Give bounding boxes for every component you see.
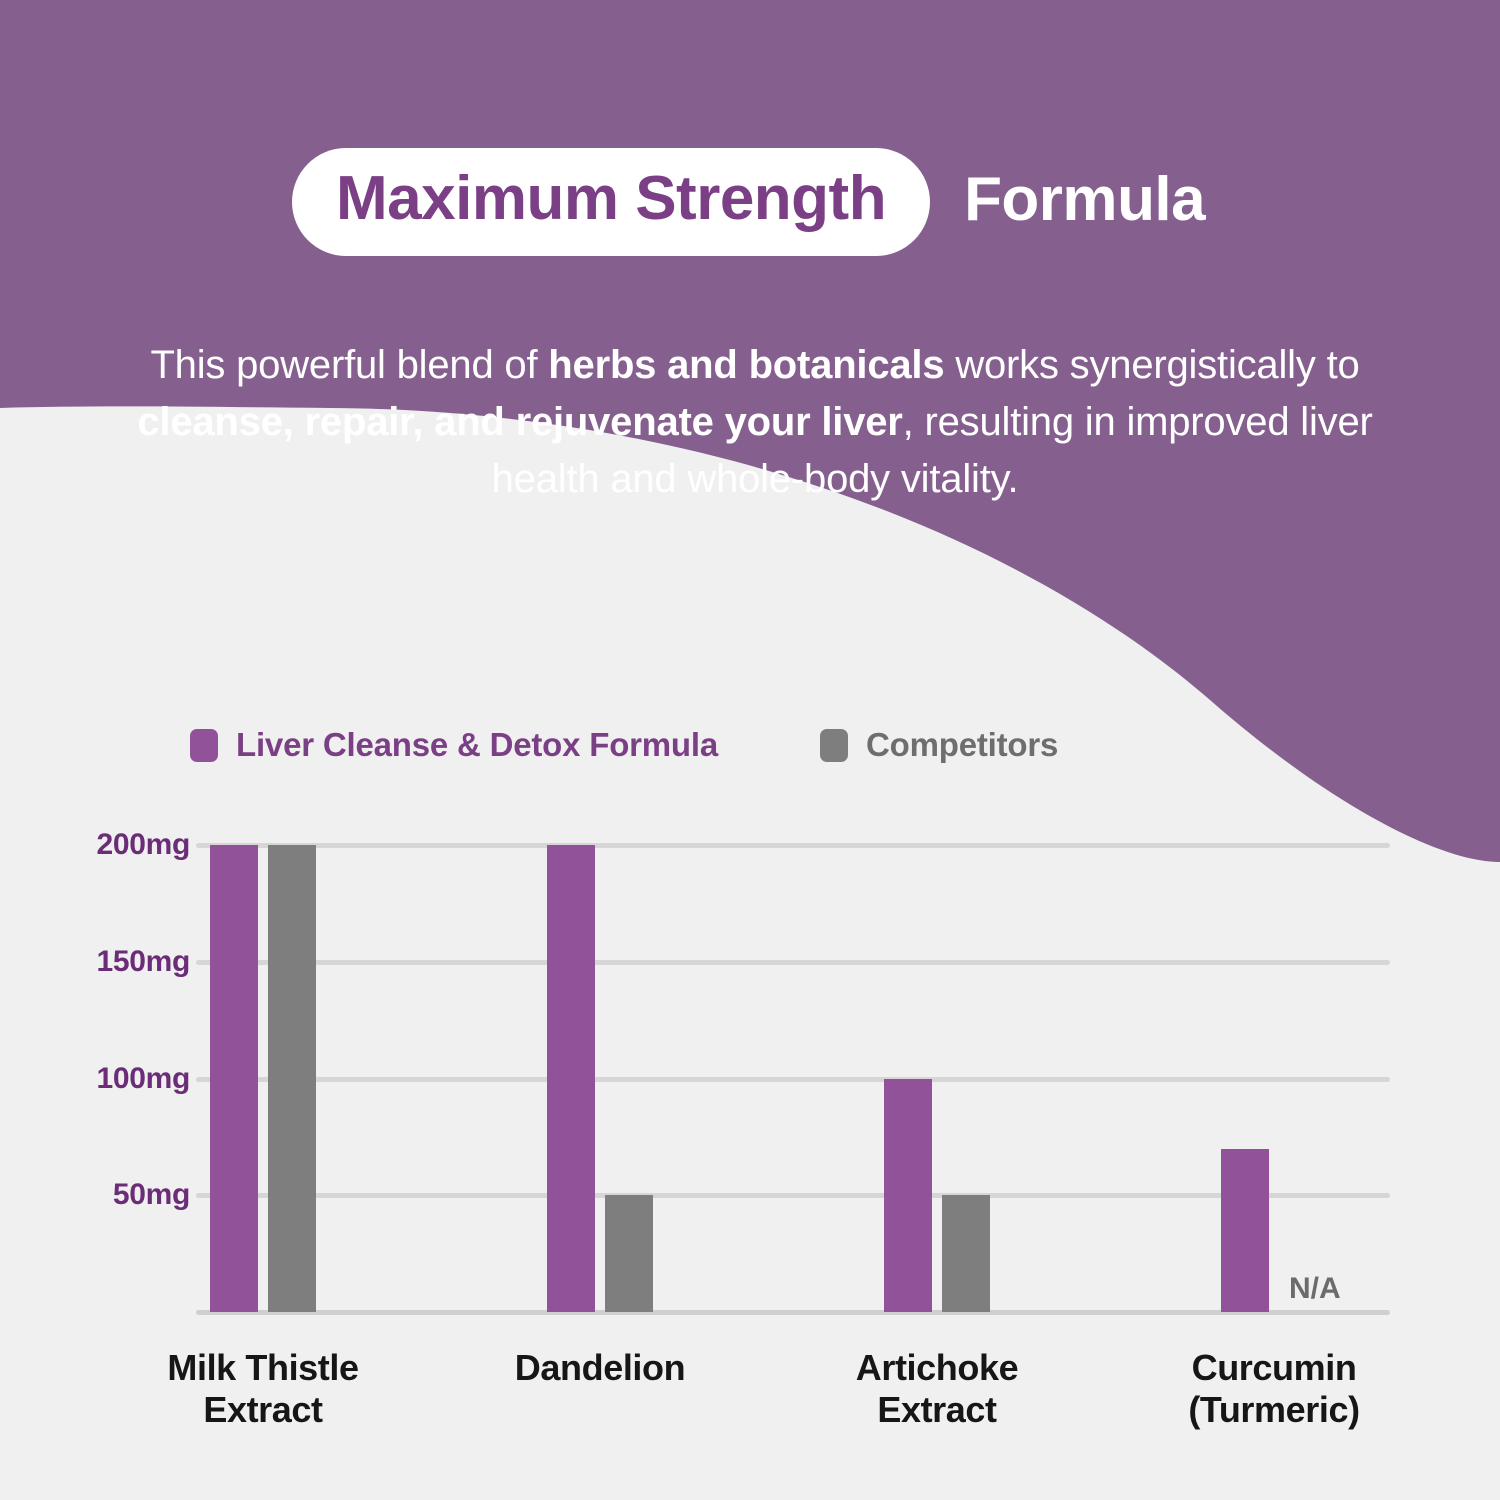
y-tick-label-200: 200mg xyxy=(30,828,190,862)
x-axis-label-1: Dandelion xyxy=(450,1347,750,1389)
x-axis-label-line: Dandelion xyxy=(450,1347,750,1389)
bar-competitor-0[interactable] xyxy=(268,845,316,1312)
x-axis-label-line: Curcumin xyxy=(1124,1347,1424,1389)
axis-baseline xyxy=(196,1310,1390,1315)
bar-competitor-2[interactable] xyxy=(942,1195,990,1312)
bar-formula-3[interactable] xyxy=(1221,1149,1269,1312)
x-axis-label-line: Extract xyxy=(113,1389,413,1431)
x-axis-label-3: Curcumin(Turmeric) xyxy=(1124,1347,1424,1432)
x-axis-label-line: Artichoke xyxy=(787,1347,1087,1389)
y-tick-label-50: 50mg xyxy=(30,1178,190,1212)
bar-formula-1[interactable] xyxy=(547,845,595,1312)
gridline-100 xyxy=(196,1077,1390,1082)
x-axis-label-line: (Turmeric) xyxy=(1124,1389,1424,1431)
x-axis-label-line: Extract xyxy=(787,1389,1087,1431)
y-tick-label-100: 100mg xyxy=(30,1062,190,1096)
bar-formula-2[interactable] xyxy=(884,1079,932,1313)
gridline-200 xyxy=(196,843,1390,848)
x-axis-label-0: Milk ThistleExtract xyxy=(113,1347,413,1432)
bar-chart: 200mg150mg100mg50mg N/A Milk ThistleExtr… xyxy=(0,0,1500,1500)
bar-na-label: N/A xyxy=(1289,1272,1341,1306)
y-tick-label-150: 150mg xyxy=(30,945,190,979)
gridline-50 xyxy=(196,1193,1390,1198)
gridline-150 xyxy=(196,960,1390,965)
x-axis-label-line: Milk Thistle xyxy=(113,1347,413,1389)
bar-competitor-1[interactable] xyxy=(605,1195,653,1312)
bar-formula-0[interactable] xyxy=(210,845,258,1312)
x-axis-label-2: ArtichokeExtract xyxy=(787,1347,1087,1432)
